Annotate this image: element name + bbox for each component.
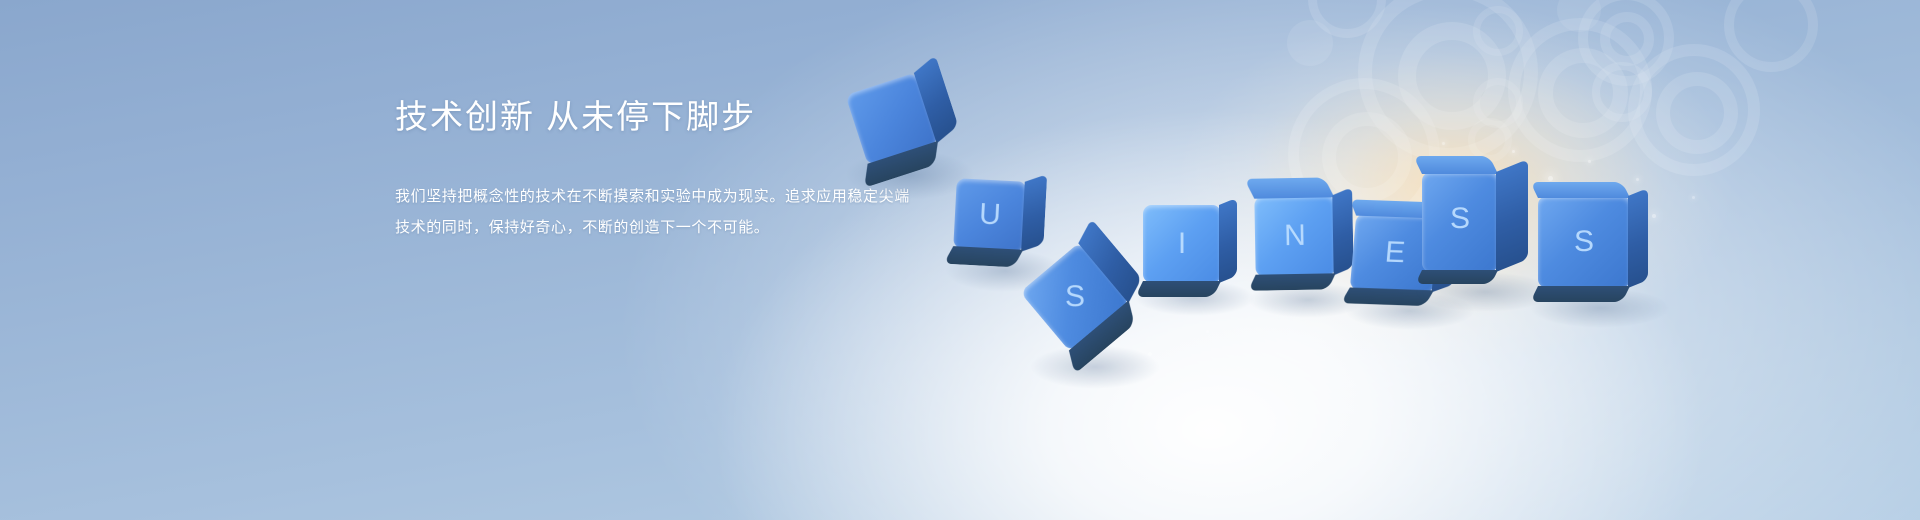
keycap-letter: S [1538,196,1630,288]
keycap-s-3: S [1538,196,1630,288]
keycap-bottom-face [1135,281,1221,297]
keycap-face: I [1143,205,1221,283]
keycap-side-face [1219,198,1237,283]
keycap-s-2: S [1422,172,1498,272]
keycap-face [845,72,938,165]
keycap-s-1: S [1020,242,1130,352]
keycap-face: N [1254,195,1335,276]
keycap-letter: S [1036,258,1114,336]
keycap-letter: U [953,178,1027,252]
keycap-letter: N [1254,195,1335,276]
keycap-side-face [1496,159,1528,272]
keycap-face: S [1538,196,1630,288]
keycap-bottom-face [1530,286,1630,302]
keycap-side-face [1628,188,1648,288]
keycap-u: U [953,178,1027,252]
keycap-bottom-face [1415,270,1498,284]
keycap-letter: S [1422,172,1498,272]
keycap-face: S [1422,172,1498,272]
hero-banner: 技术创新 从未停下脚步 我们坚持把概念性的技术在不断摸索和实验中成为现实。追求应… [0,0,1920,520]
keycap-letter: I [1143,205,1221,283]
keycap-n: N [1254,195,1335,276]
keycap-face: U [953,178,1027,252]
keycap-i: I [1143,205,1221,283]
keycap-blank [845,72,938,165]
keycap-group: U S I N [0,0,1920,520]
keycap-face: S [1020,242,1130,352]
